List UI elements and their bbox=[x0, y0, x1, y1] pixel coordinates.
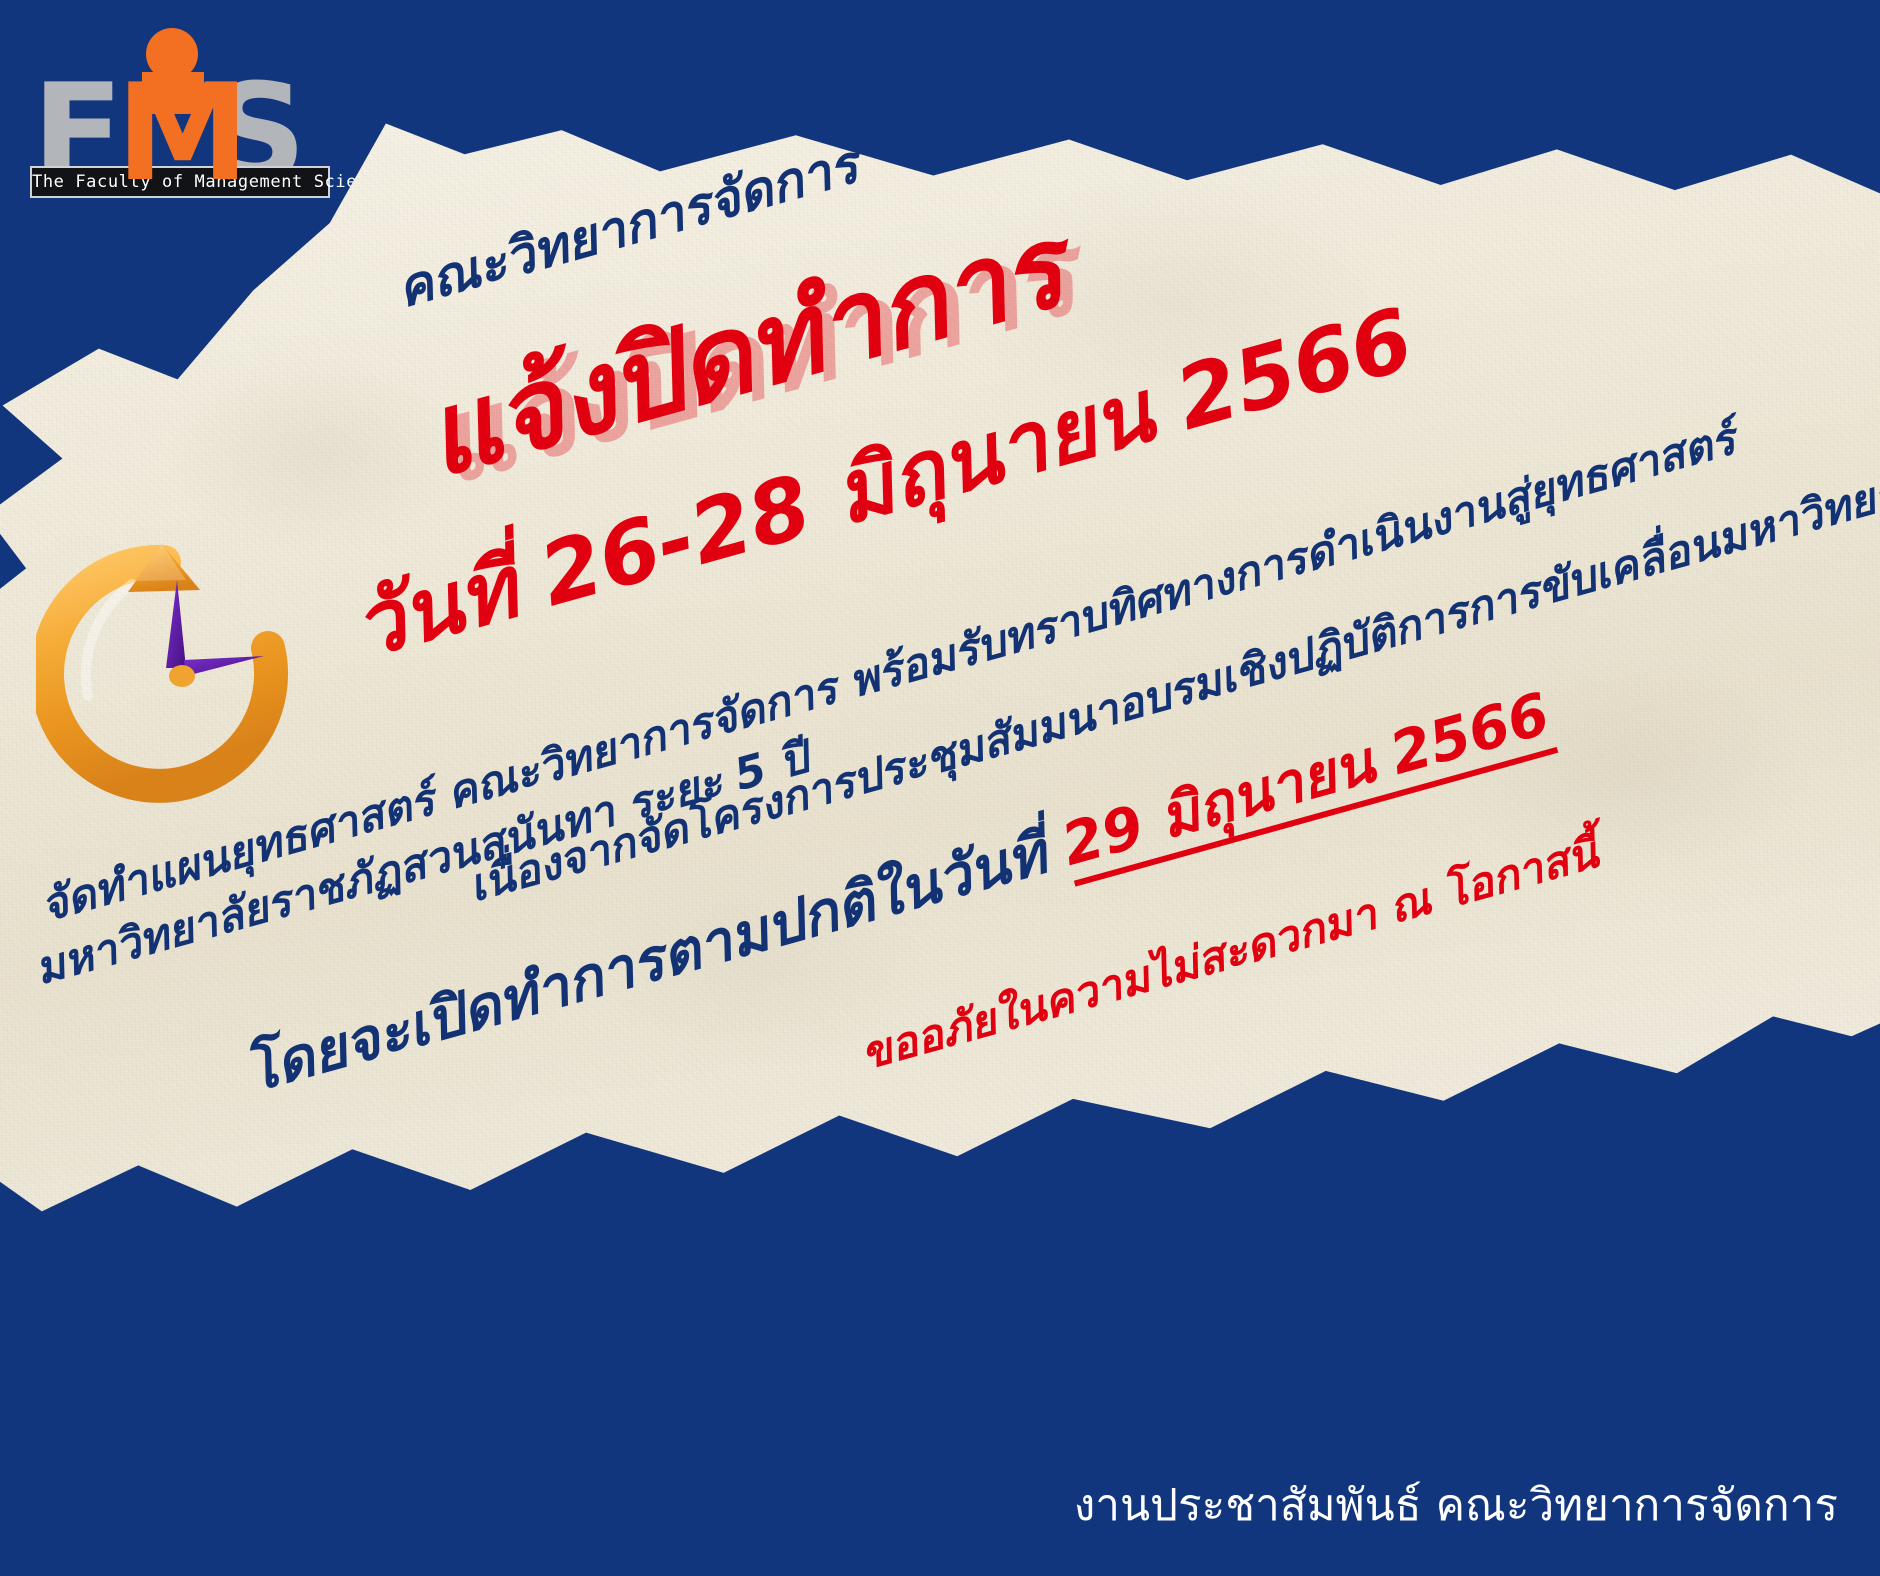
announcement-poster: F S M The Faculty of Management Science bbox=[0, 0, 1880, 1576]
logo-letter-m: M bbox=[116, 66, 249, 200]
fms-logo: F S M The Faculty of Management Science bbox=[24, 14, 354, 204]
person-head-icon bbox=[146, 28, 198, 80]
footer-credit: งานประชาสัมพันธ์ คณะวิทยาการจัดการ bbox=[1074, 1470, 1838, 1540]
refresh-clock-icon bbox=[36, 528, 326, 818]
